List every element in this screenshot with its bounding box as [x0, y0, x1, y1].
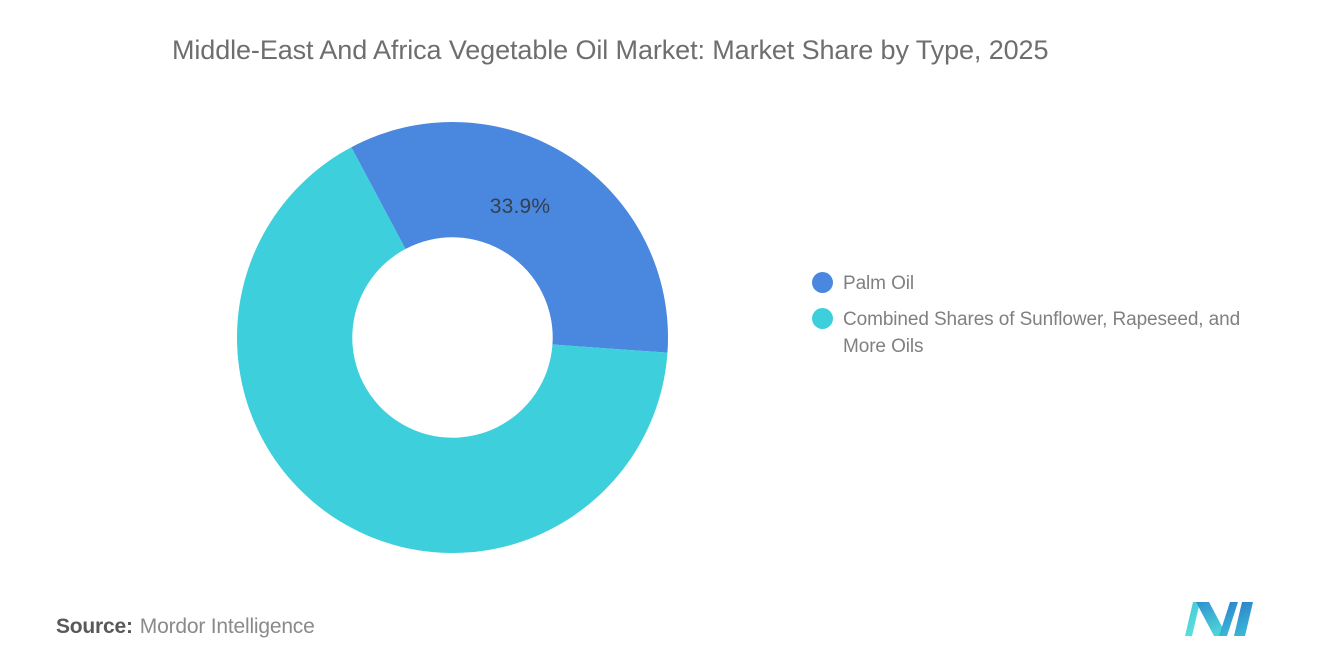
source-line: Source:Mordor Intelligence — [56, 612, 315, 642]
chart-legend: Palm Oil Combined Shares of Sunflower, R… — [812, 270, 1282, 369]
donut-chart-svg — [237, 122, 668, 553]
logo-svg — [1183, 598, 1257, 638]
legend-item-combined-shares[interactable]: Combined Shares of Sunflower, Rapeseed, … — [812, 306, 1282, 360]
mordor-intelligence-logo-icon — [1183, 598, 1257, 638]
legend-label-combined-shares: Combined Shares of Sunflower, Rapeseed, … — [843, 306, 1282, 360]
donut-chart — [237, 122, 668, 553]
legend-item-palm-oil[interactable]: Palm Oil — [812, 270, 1282, 297]
source-value: Mordor Intelligence — [140, 615, 315, 638]
legend-swatch-icon-palm-oil — [812, 272, 833, 293]
legend-swatch-icon-combined-shares — [812, 308, 833, 329]
page-title: Middle-East And Africa Vegetable Oil Mar… — [172, 30, 1232, 70]
chart-canvas: Middle-East And Africa Vegetable Oil Mar… — [0, 0, 1320, 665]
source-label: Source: — [56, 615, 133, 638]
legend-label-palm-oil: Palm Oil — [843, 270, 914, 297]
